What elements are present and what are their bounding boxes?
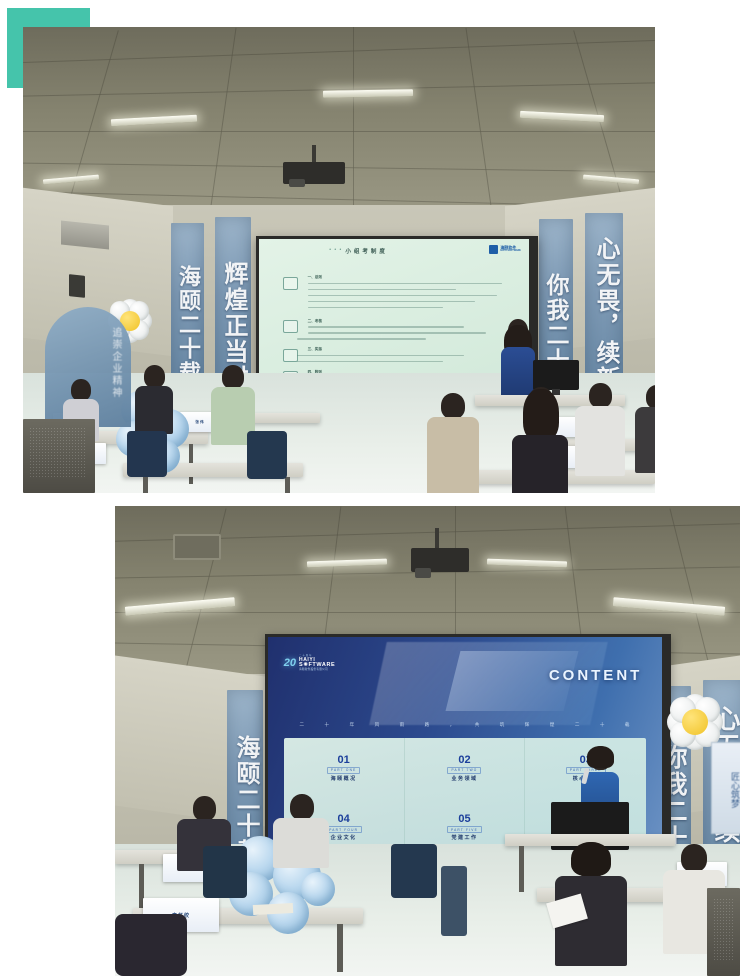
attendee-torso	[512, 435, 568, 493]
text-line	[308, 301, 475, 303]
subtitle-char: 载	[625, 722, 631, 728]
agenda-item: 02 PART TWO 业务领域	[405, 738, 526, 798]
attendee-torso	[115, 914, 187, 976]
subtitle-char: 风	[375, 722, 381, 728]
attendee-hair	[523, 389, 559, 441]
attendee-torso	[575, 406, 625, 476]
text-line	[308, 307, 443, 309]
attendee	[115, 914, 187, 976]
agenda-item: 01 PART ONE 海颐概况	[284, 738, 405, 798]
monitor	[533, 360, 579, 390]
section-heading: 二、考核	[308, 319, 322, 324]
presenter-hair	[587, 746, 614, 768]
slide-heading: CONTENT	[549, 667, 643, 684]
attendee-head	[681, 844, 707, 872]
cabinet-perforation	[713, 898, 735, 960]
attendee	[133, 365, 175, 431]
agenda-label: 企业文化	[331, 834, 357, 841]
chair	[441, 866, 467, 936]
subtitle-char: 十	[600, 722, 606, 728]
agenda-number: 04	[338, 814, 350, 825]
attendee-head	[144, 365, 165, 388]
subtitle-char: 二	[575, 722, 581, 728]
section-icon	[283, 277, 298, 290]
agenda-number: 02	[458, 755, 470, 766]
attendee-head	[71, 379, 91, 401]
text-line	[308, 283, 502, 285]
slide-logo: 20 二十周年 HAIYI S✺FTWARE 海颐软件股份有限公司	[284, 655, 336, 671]
subtitle-char: 路	[425, 722, 431, 728]
logo-mark	[489, 245, 498, 254]
name-tag-label: 张伟	[195, 420, 204, 425]
attendee-torso	[635, 407, 655, 473]
subtitle-char: 筑	[500, 722, 506, 728]
attendee	[575, 383, 625, 475]
subtitle-char: 共	[475, 722, 481, 728]
wall-vent	[61, 220, 109, 249]
photo-2: 海颐二十载 辉煌正当时 你我二十 心无畏，续新章 20 二十周年 HAIYI S…	[115, 506, 740, 976]
desk-leg	[519, 846, 524, 892]
section-heading: 一、总则	[308, 275, 322, 280]
agenda-part: PART FIVE	[447, 826, 482, 833]
anniversary-mark: 20	[284, 658, 296, 669]
text-line	[297, 355, 464, 357]
desk-leg	[337, 924, 343, 972]
text-line	[308, 326, 465, 328]
chair	[391, 844, 437, 898]
agenda-part: PART ONE	[327, 767, 361, 774]
slide-dots: • • •	[329, 247, 342, 253]
subtitle-char: 年	[350, 722, 356, 728]
attendee-torso	[273, 818, 329, 868]
attendee-head	[193, 796, 216, 821]
slide-subtitle: 二 十 年 风 雨 路 ， 共 筑 辉 煌 二 十 载	[300, 722, 631, 728]
paper	[253, 903, 293, 915]
ceiling-vent	[173, 534, 221, 560]
section-heading: 三、奖惩	[308, 347, 322, 352]
subtitle-char: 二	[300, 722, 306, 728]
attendee-hair	[571, 842, 611, 876]
subtitle-char: 煌	[550, 722, 556, 728]
balloon	[301, 872, 335, 906]
attendee	[209, 365, 257, 441]
attendee-torso	[135, 386, 173, 434]
chair	[127, 431, 167, 477]
attendee-head	[441, 393, 465, 419]
agenda-label: 党建工作	[451, 834, 477, 841]
attendee-head	[222, 365, 244, 389]
desk-leg	[285, 477, 290, 493]
attendee-head	[646, 385, 655, 409]
agenda-part: PART FOUR	[325, 826, 362, 833]
attendee	[635, 385, 655, 471]
photo-collage-page: 海颐二十载 辉煌正当时 你我二十 心无畏，续新章 • • • 小组考制度 海颐软…	[0, 0, 740, 976]
attendee	[510, 387, 570, 493]
text-line	[297, 361, 443, 363]
wall-speaker	[69, 274, 85, 298]
text-line	[297, 338, 427, 340]
cabinet-perforation	[29, 427, 87, 477]
subtitle-char: 雨	[400, 722, 406, 728]
agenda-number: 05	[458, 814, 470, 825]
attendee-head	[290, 794, 314, 820]
projector-lens	[415, 568, 431, 578]
chair	[203, 846, 247, 898]
slide-title: 小组考制度	[345, 247, 388, 255]
text-line	[308, 289, 457, 291]
wall-poster: 匠心筑梦	[711, 742, 740, 834]
agenda-label: 业务领域	[451, 775, 477, 782]
attendee	[427, 393, 479, 493]
text-line	[308, 295, 497, 297]
section-icon	[283, 320, 298, 333]
logo-text-en: HAIYI SOFTWARE	[500, 250, 521, 253]
text-line	[308, 332, 486, 334]
agenda-label: 海颐概况	[331, 775, 357, 782]
agenda-part: PART TWO	[447, 767, 481, 774]
chair	[247, 431, 287, 479]
photo-1: 海颐二十载 辉煌正当时 你我二十 心无畏，续新章 • • • 小组考制度 海颐软…	[23, 27, 655, 493]
subtitle-char: 十	[325, 722, 331, 728]
projection-screen: • • • 小组考制度 海颐软件 HAIYI SOFTWARE 一、总则	[259, 239, 529, 389]
subtitle-char: ，	[450, 722, 456, 728]
subtitle-char: 辉	[525, 722, 531, 728]
projector-lens	[289, 179, 305, 187]
attendee-torso	[427, 417, 479, 493]
attendee	[273, 794, 329, 864]
slide-logo: 海颐软件 HAIYI SOFTWARE	[489, 245, 521, 254]
attendee-head	[589, 383, 612, 408]
logo-line-3: 海颐软件股份有限公司	[299, 669, 335, 672]
agenda-number: 01	[338, 755, 350, 766]
desk-leg	[143, 477, 148, 493]
